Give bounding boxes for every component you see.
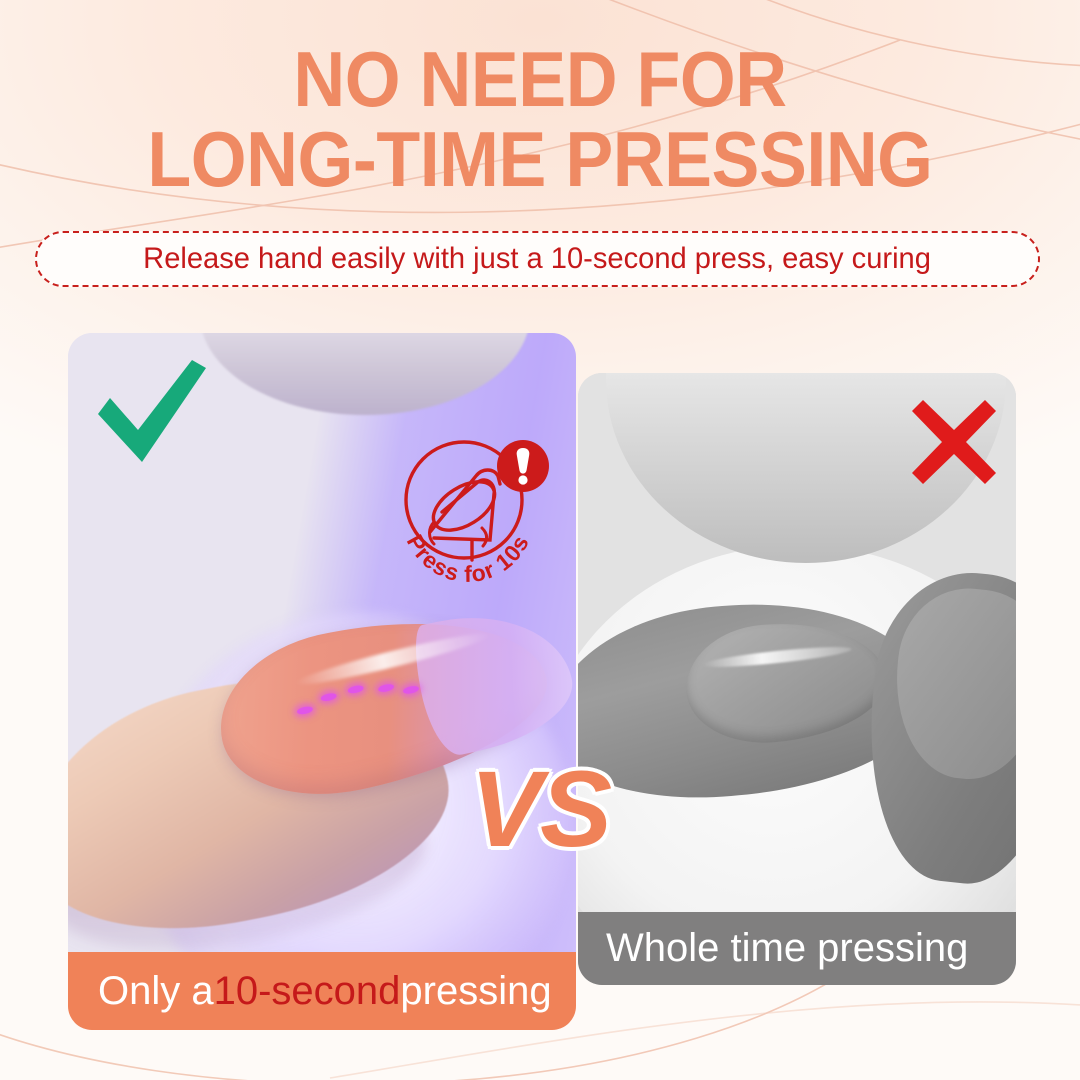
caption-left-suffix: pressing [400,969,551,1014]
check-icon [92,358,210,466]
subtitle-text: Release hand easily with just a 10-secon… [144,242,932,276]
page-title: NO NEED FOR LONG-TIME PRESSING [43,42,1037,197]
caption-left: Only a 10-second pressing [68,952,576,1030]
exclamation-icon [497,440,549,492]
caption-left-highlight: 10-second [214,969,401,1014]
title-line-2: LONG-TIME PRESSING [43,122,1037,198]
title-line-1: NO NEED FOR [43,42,1037,118]
caption-right-text: Whole time pressing [606,926,968,971]
close-icon [906,394,1002,490]
infographic-canvas: NO NEED FOR LONG-TIME PRESSING Release h… [0,0,1080,1080]
caption-right: Whole time pressing [578,912,1016,985]
caption-left-prefix: Only a [98,969,214,1014]
subtitle-pill: Release hand easily with just a 10-secon… [35,231,1040,287]
press-for-10s-stamp: Press for 10s [390,428,560,596]
